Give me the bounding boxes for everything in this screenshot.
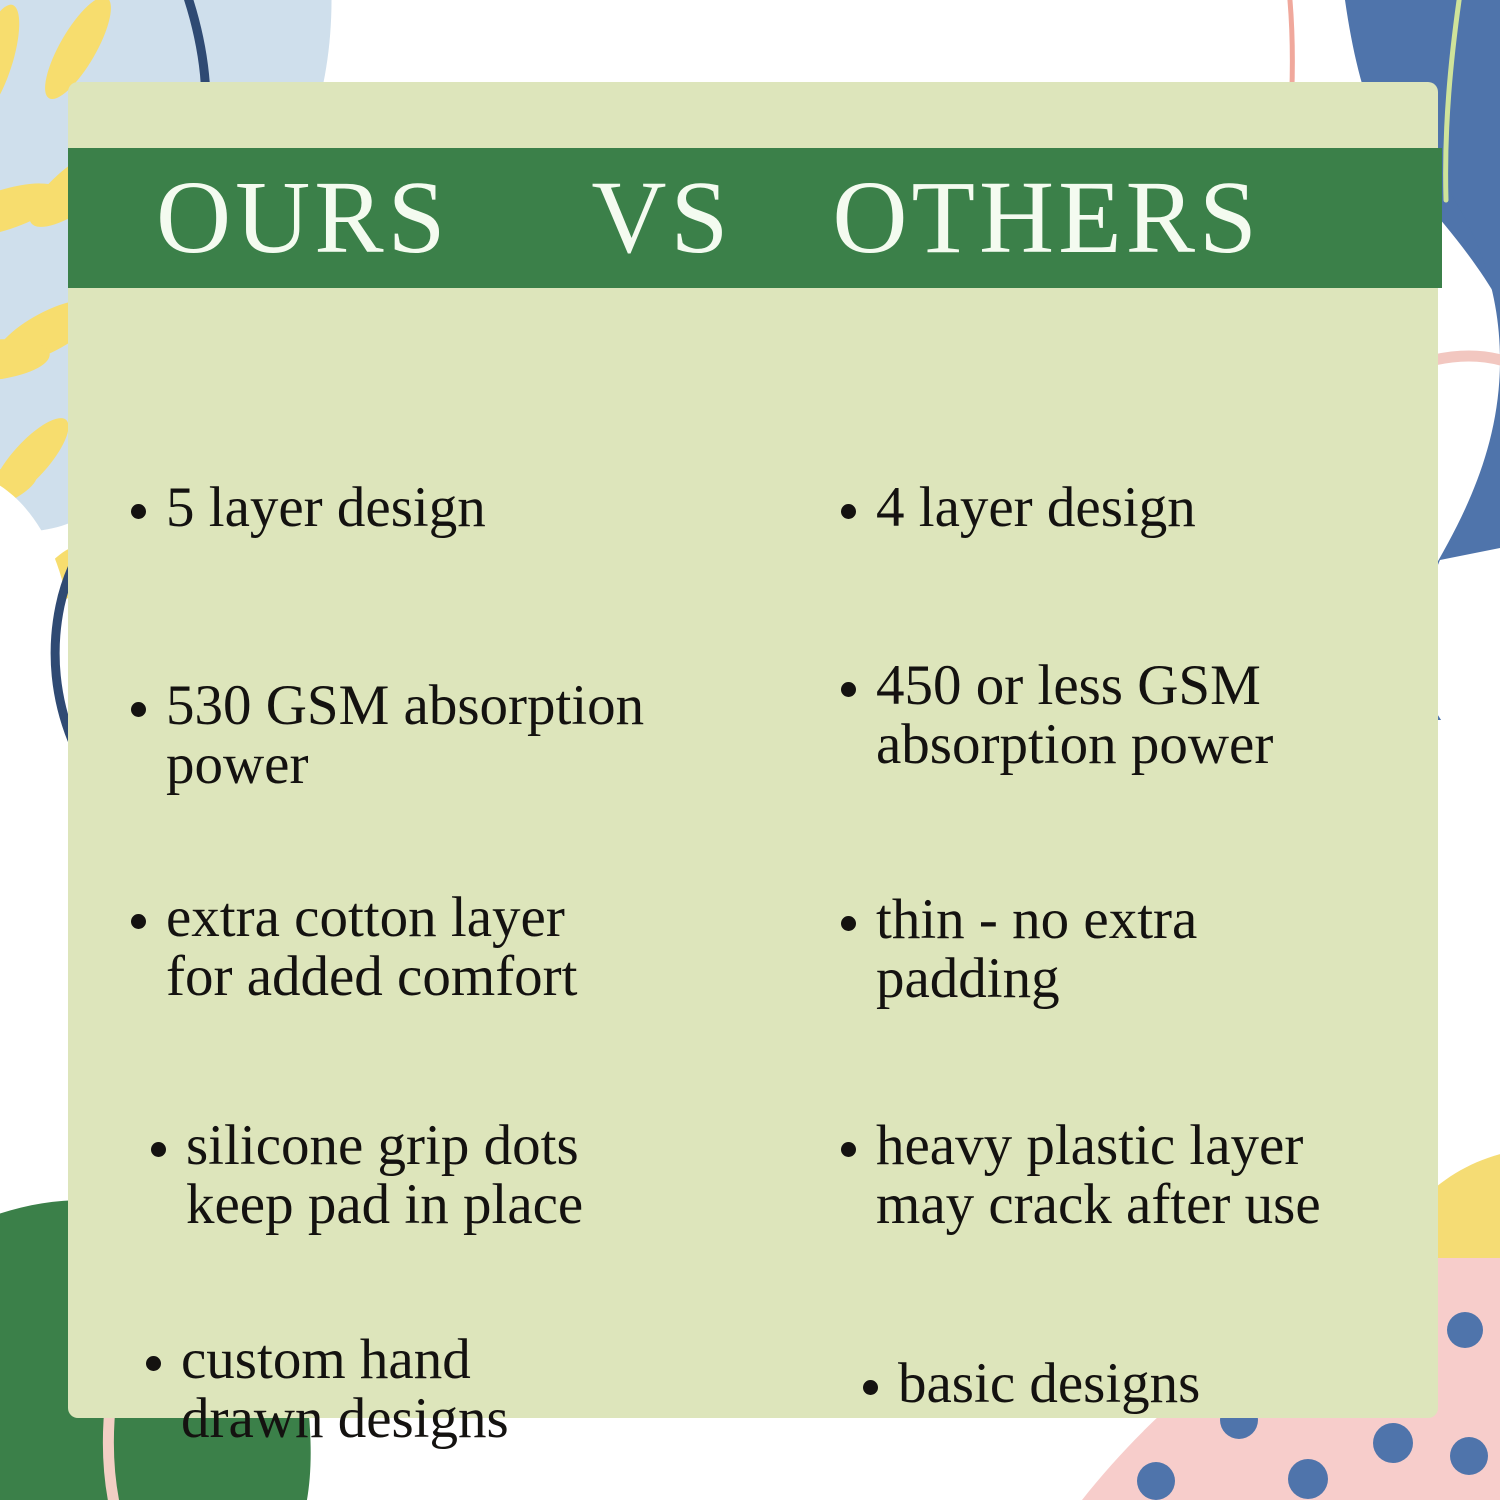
list-item-label: silicone grip dots keep pad in place	[186, 1116, 583, 1235]
list-item-label: 4 layer design	[876, 478, 1196, 537]
header-vs-label: VS	[591, 166, 732, 270]
list-item: custom hand drawn designs	[146, 1330, 509, 1449]
list-item: silicone grip dots keep pad in place	[151, 1116, 583, 1235]
bullet-dot-icon	[841, 504, 856, 519]
list-item: 5 layer design	[131, 478, 486, 537]
bullet-dot-icon	[863, 1380, 878, 1395]
pink-arc-right	[1434, 356, 1500, 370]
header-others-label: OTHERS	[832, 166, 1260, 270]
bullet-dot-icon	[131, 702, 146, 717]
list-item-label: 450 or less GSM absorption power	[876, 656, 1273, 775]
list-item: 4 layer design	[841, 478, 1196, 537]
bullet-dot-icon	[841, 682, 856, 697]
list-item: thin - no extra padding	[841, 890, 1197, 1009]
list-item-label: thin - no extra padding	[876, 890, 1197, 1009]
column-others: 4 layer design 450 or less GSM absorptio…	[753, 312, 1438, 1418]
bullet-dot-icon	[151, 1142, 166, 1157]
infographic-canvas: OURS VS OTHERS 5 layer design 530 GSM ab…	[0, 0, 1500, 1500]
bullet-dot-icon	[131, 504, 146, 519]
list-item: basic designs	[863, 1354, 1200, 1413]
bullet-dot-icon	[841, 916, 856, 931]
header-ours-label: OURS	[156, 166, 449, 270]
header-band: OURS VS OTHERS	[68, 148, 1442, 288]
list-item: heavy plastic layer may crack after use	[841, 1116, 1321, 1235]
list-item-label: 530 GSM absorption power	[166, 676, 644, 795]
comparison-card: OURS VS OTHERS 5 layer design 530 GSM ab…	[68, 82, 1438, 1418]
list-item-label: extra cotton layer for added comfort	[166, 888, 578, 1007]
column-ours: 5 layer design 530 GSM absorption power …	[68, 312, 753, 1418]
list-item-label: custom hand drawn designs	[181, 1330, 509, 1449]
bullet-dot-icon	[131, 914, 146, 929]
list-item-label: 5 layer design	[166, 478, 486, 537]
bullet-dot-icon	[146, 1356, 161, 1371]
bullet-dot-icon	[841, 1142, 856, 1157]
list-item-label: basic designs	[898, 1354, 1200, 1413]
list-item: 530 GSM absorption power	[131, 676, 644, 795]
list-item-label: heavy plastic layer may crack after use	[876, 1116, 1321, 1235]
list-item: extra cotton layer for added comfort	[131, 888, 578, 1007]
comparison-columns: 5 layer design 530 GSM absorption power …	[68, 312, 1438, 1418]
list-item: 450 or less GSM absorption power	[841, 656, 1273, 775]
